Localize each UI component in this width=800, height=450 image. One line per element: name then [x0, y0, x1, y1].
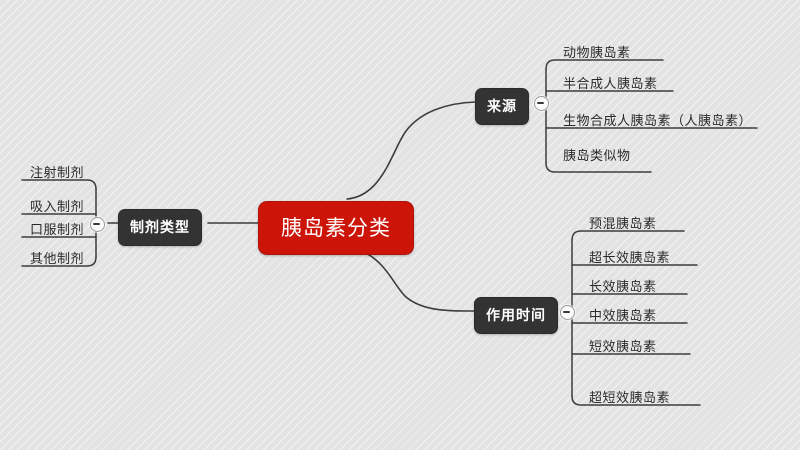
leaf-node-label: 生物合成人胰岛素（人胰岛素） [563, 114, 752, 129]
leaf-node[interactable]: 中效胰岛素 [581, 303, 663, 327]
branch-node-source[interactable]: 来源 [475, 88, 529, 125]
branch-node-formulation-type[interactable]: 制剂类型 [118, 209, 202, 246]
leaf-node[interactable]: 超长效胰岛素 [581, 245, 676, 269]
leaf-node[interactable]: 吸入制剂 [22, 194, 90, 218]
branch-node-label: 作用时间 [486, 308, 546, 324]
leaf-node-label: 预混胰岛素 [589, 217, 657, 232]
leaf-node[interactable]: 口服制剂 [22, 217, 90, 241]
leaf-node-label: 注射制剂 [30, 166, 84, 181]
leaf-node[interactable]: 注射制剂 [22, 160, 90, 184]
leaf-node[interactable]: 半合成人胰岛素 [555, 71, 664, 95]
mindmap-canvas: 胰岛素分类 制剂类型 注射制剂 吸入制剂 口服制剂 其他制剂 来源 动物胰岛素 … [0, 0, 800, 450]
leaf-node[interactable]: 生物合成人胰岛素（人胰岛素） [555, 108, 758, 132]
branch-node-label: 制剂类型 [130, 220, 190, 236]
root-node-label: 胰岛素分类 [281, 216, 391, 240]
branch-node-label: 来源 [487, 99, 517, 115]
leaf-node[interactable]: 胰岛类似物 [555, 143, 637, 167]
leaf-node-label: 中效胰岛素 [589, 309, 657, 324]
leaf-node[interactable]: 预混胰岛素 [581, 211, 663, 235]
minus-toggle-source[interactable] [534, 96, 549, 111]
leaf-node-label: 长效胰岛素 [589, 280, 657, 295]
leaf-node[interactable]: 其他制剂 [22, 246, 90, 270]
leaf-node-label: 短效胰岛素 [589, 340, 657, 355]
leaf-node-label: 动物胰岛素 [563, 46, 631, 61]
leaf-node-label: 口服制剂 [30, 223, 84, 238]
leaf-node[interactable]: 长效胰岛素 [581, 274, 663, 298]
leaf-node-label: 胰岛类似物 [563, 149, 631, 164]
leaf-node-label: 超短效胰岛素 [589, 391, 670, 406]
leaf-node-label: 吸入制剂 [30, 200, 84, 215]
leaf-node[interactable]: 短效胰岛素 [581, 334, 663, 358]
leaf-node[interactable]: 超短效胰岛素 [581, 385, 676, 409]
leaf-node-label: 超长效胰岛素 [589, 251, 670, 266]
minus-toggle-formulation-type[interactable] [90, 217, 105, 232]
minus-toggle-duration-of-action[interactable] [560, 305, 575, 320]
branch-node-duration-of-action[interactable]: 作用时间 [474, 297, 558, 334]
root-node[interactable]: 胰岛素分类 [258, 201, 414, 255]
leaf-node[interactable]: 动物胰岛素 [555, 40, 637, 64]
leaf-node-label: 半合成人胰岛素 [563, 77, 658, 92]
leaf-node-label: 其他制剂 [30, 252, 84, 267]
